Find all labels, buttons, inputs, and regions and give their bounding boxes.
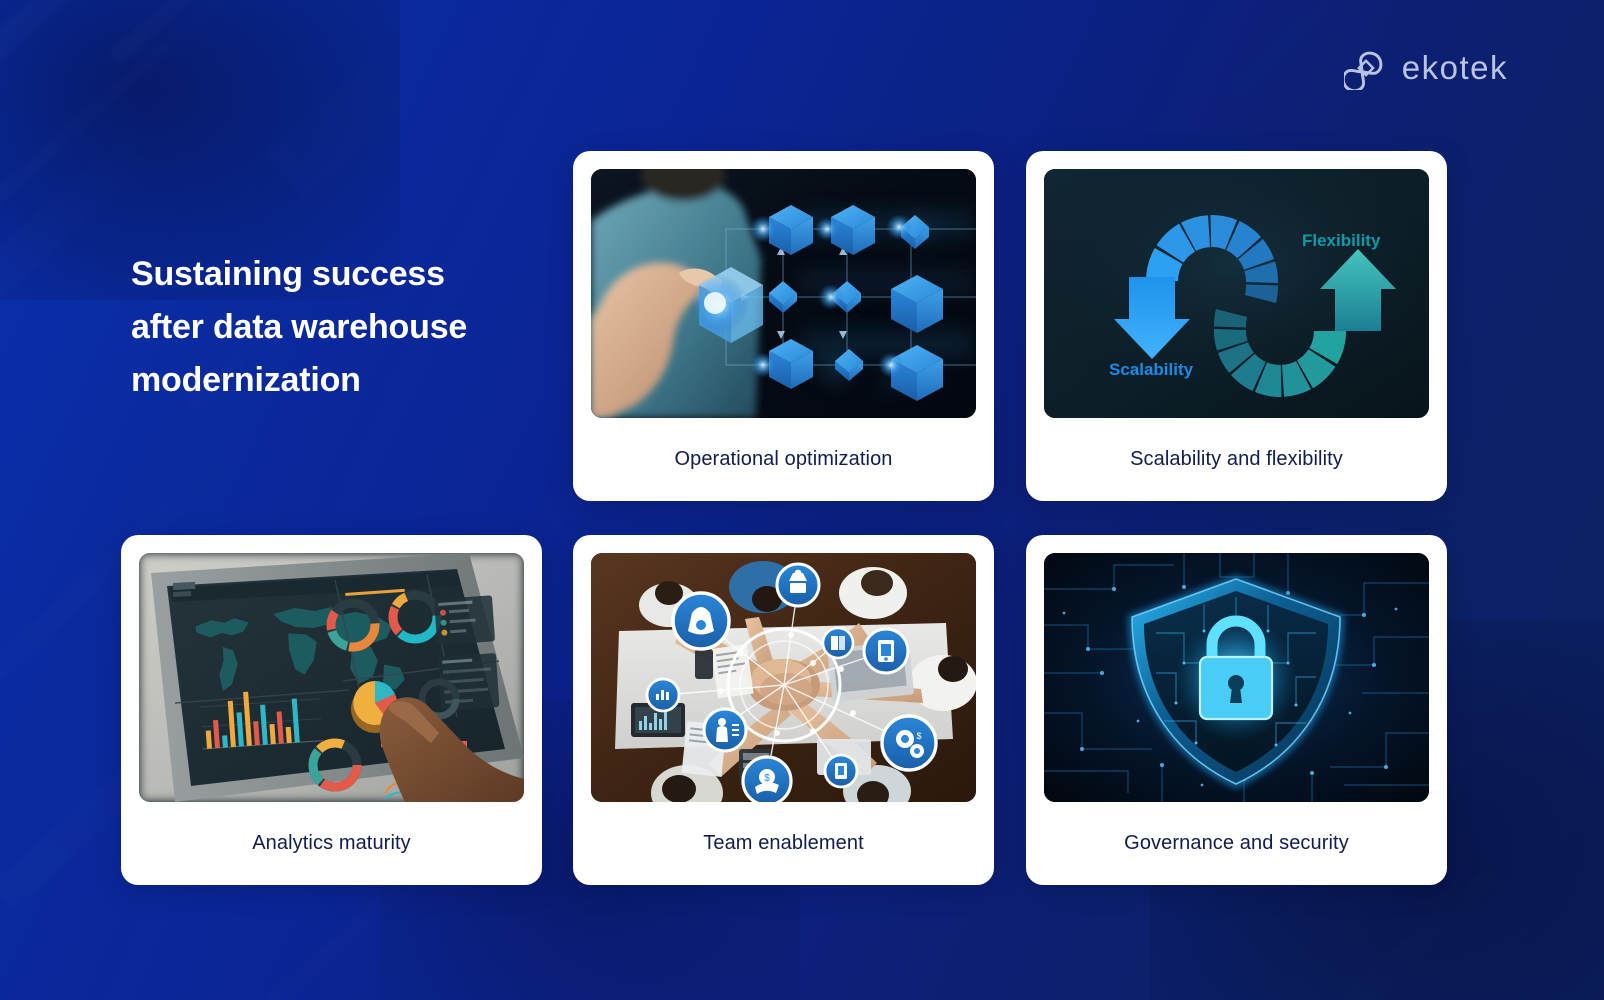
- card-analytics-maturity[interactable]: Analytics maturity: [121, 535, 542, 885]
- blockchain-network-photo-icon: [591, 169, 976, 418]
- background-streak: [263, 0, 496, 199]
- page-title-line-3: modernization: [131, 354, 551, 407]
- card-governance-security[interactable]: Governance and security: [1026, 535, 1447, 885]
- svg-text:$: $: [916, 731, 921, 741]
- page-title-line-2: after data warehouse: [131, 301, 551, 354]
- ekotek-infinity-mark-icon: [1344, 46, 1388, 90]
- page-title-line-1: Sustaining success: [131, 248, 551, 301]
- svg-text:Flexibility: Flexibility: [1302, 231, 1381, 250]
- security-shield-photo-icon: [1044, 553, 1429, 802]
- card-team-enablement[interactable]: $ $: [573, 535, 994, 885]
- page-title: Sustaining success after data warehouse …: [131, 248, 551, 407]
- slide-canvas: ekotek Sustaining success after data war…: [0, 0, 1604, 1000]
- card-operational-optimization[interactable]: Operational optimization: [573, 151, 994, 501]
- card-caption: Team enablement: [573, 801, 994, 885]
- card-caption: Operational optimization: [573, 417, 994, 501]
- svg-text:$: $: [764, 773, 770, 784]
- background-streak: [108, 0, 432, 66]
- svg-text:Scalability: Scalability: [1109, 360, 1194, 379]
- card-caption: Analytics maturity: [121, 801, 542, 885]
- background-streak: [0, 0, 282, 157]
- scalability-flexibility-diagram-icon: Scalability Flexibility: [1044, 169, 1429, 418]
- card-caption: Governance and security: [1026, 801, 1447, 885]
- card-caption: Scalability and flexibility: [1026, 417, 1447, 501]
- card-scalability-flexibility[interactable]: Scalability Flexibility Scalability and …: [1026, 151, 1447, 501]
- brand-logo: ekotek: [1344, 46, 1508, 90]
- analytics-dashboard-photo-icon: [139, 553, 524, 802]
- team-collaboration-photo-icon: $ $: [591, 553, 976, 802]
- brand-name: ekotek: [1402, 49, 1508, 87]
